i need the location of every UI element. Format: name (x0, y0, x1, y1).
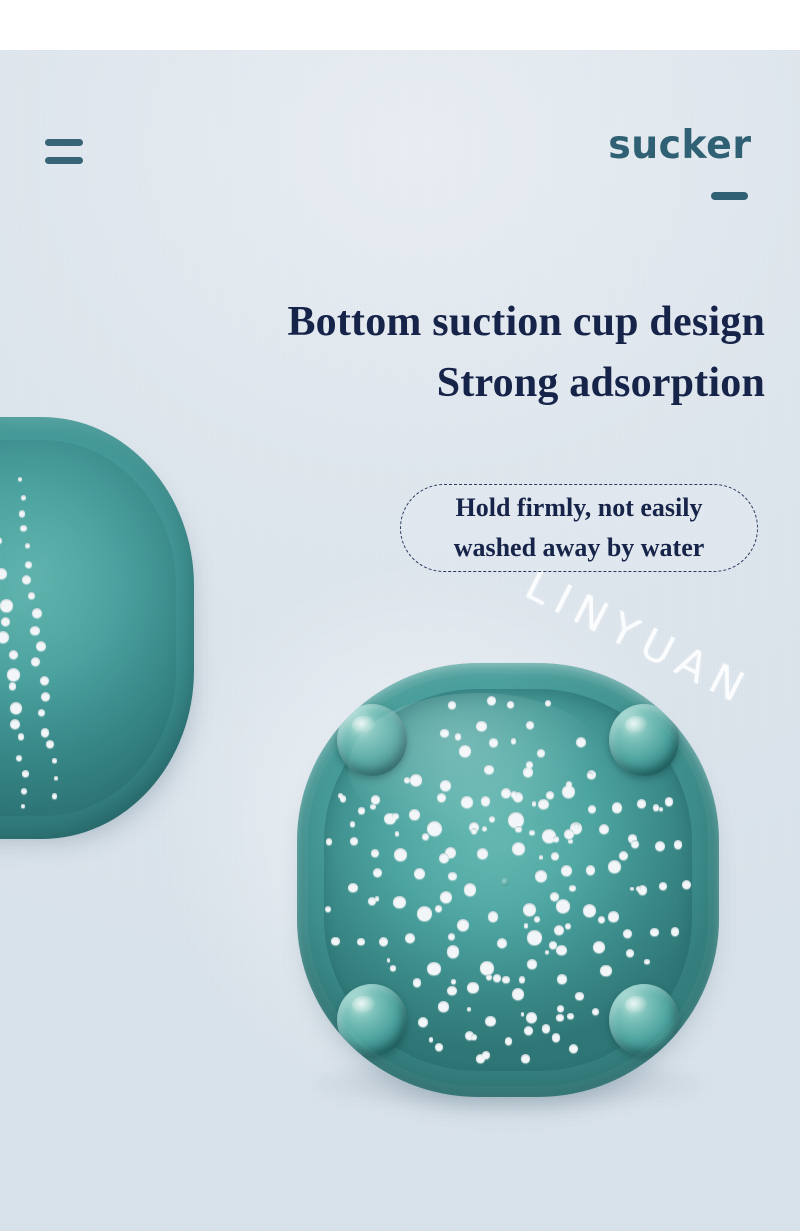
callout-line-2: washed away by water (454, 528, 705, 568)
strainer-hole (22, 770, 29, 777)
strainer-hole (31, 657, 40, 666)
headline-line-1: Bottom suction cup design (120, 292, 765, 353)
brand-name-text: sucker (609, 126, 752, 165)
left-strainer-body: k+ t (0, 417, 194, 839)
brand-underline-dash (711, 192, 748, 200)
strainer-hole (25, 543, 30, 548)
strainer-hole (25, 561, 32, 568)
strainer-hole (21, 788, 27, 794)
headline-line-2: Strong adsorption (120, 353, 765, 414)
strainer-hole (19, 510, 26, 517)
brand-wordmark: sucker (606, 126, 754, 165)
main-strainer-rim (297, 663, 719, 1097)
strainer-hole (9, 682, 16, 689)
menu-bar-bottom (45, 157, 83, 164)
strainer-hole (0, 599, 12, 611)
strainer-hole (20, 525, 27, 532)
hamburger-menu-icon[interactable] (45, 137, 85, 165)
page-title: Bottom suction cup design Strong adsorpt… (120, 292, 765, 414)
strainer-hole (38, 709, 45, 716)
feature-callout-badge: Hold firmly, not easily washed away by w… (400, 484, 758, 572)
menu-bar-top (45, 139, 83, 146)
strainer-hole (21, 495, 26, 500)
strainer-hole (18, 477, 22, 481)
callout-line-1: Hold firmly, not easily (456, 488, 703, 528)
strainer-hole (32, 608, 42, 618)
strainer-hole (40, 676, 49, 685)
strainer-hole (9, 650, 18, 659)
strainer-hole (28, 592, 35, 599)
strainer-hole (7, 668, 20, 681)
product-image-left-strainer: k+ t (0, 417, 194, 839)
strainer-hole (30, 626, 40, 636)
marketing-page: k+ t sucker Bottom suction cup design St… (0, 0, 800, 1231)
strainer-hole (52, 793, 57, 798)
strainer-hole (41, 692, 50, 701)
main-strainer-body (297, 663, 719, 1097)
strainer-hole (41, 728, 50, 737)
strainer-hole (46, 740, 54, 748)
left-strainer-dish (0, 440, 176, 816)
strainer-hole (10, 702, 22, 714)
product-image-main-strainer (297, 663, 719, 1097)
strainer-hole (54, 776, 58, 780)
strainer-hole (52, 758, 57, 763)
strainer-hole (18, 733, 25, 740)
top-white-strip (0, 0, 800, 50)
